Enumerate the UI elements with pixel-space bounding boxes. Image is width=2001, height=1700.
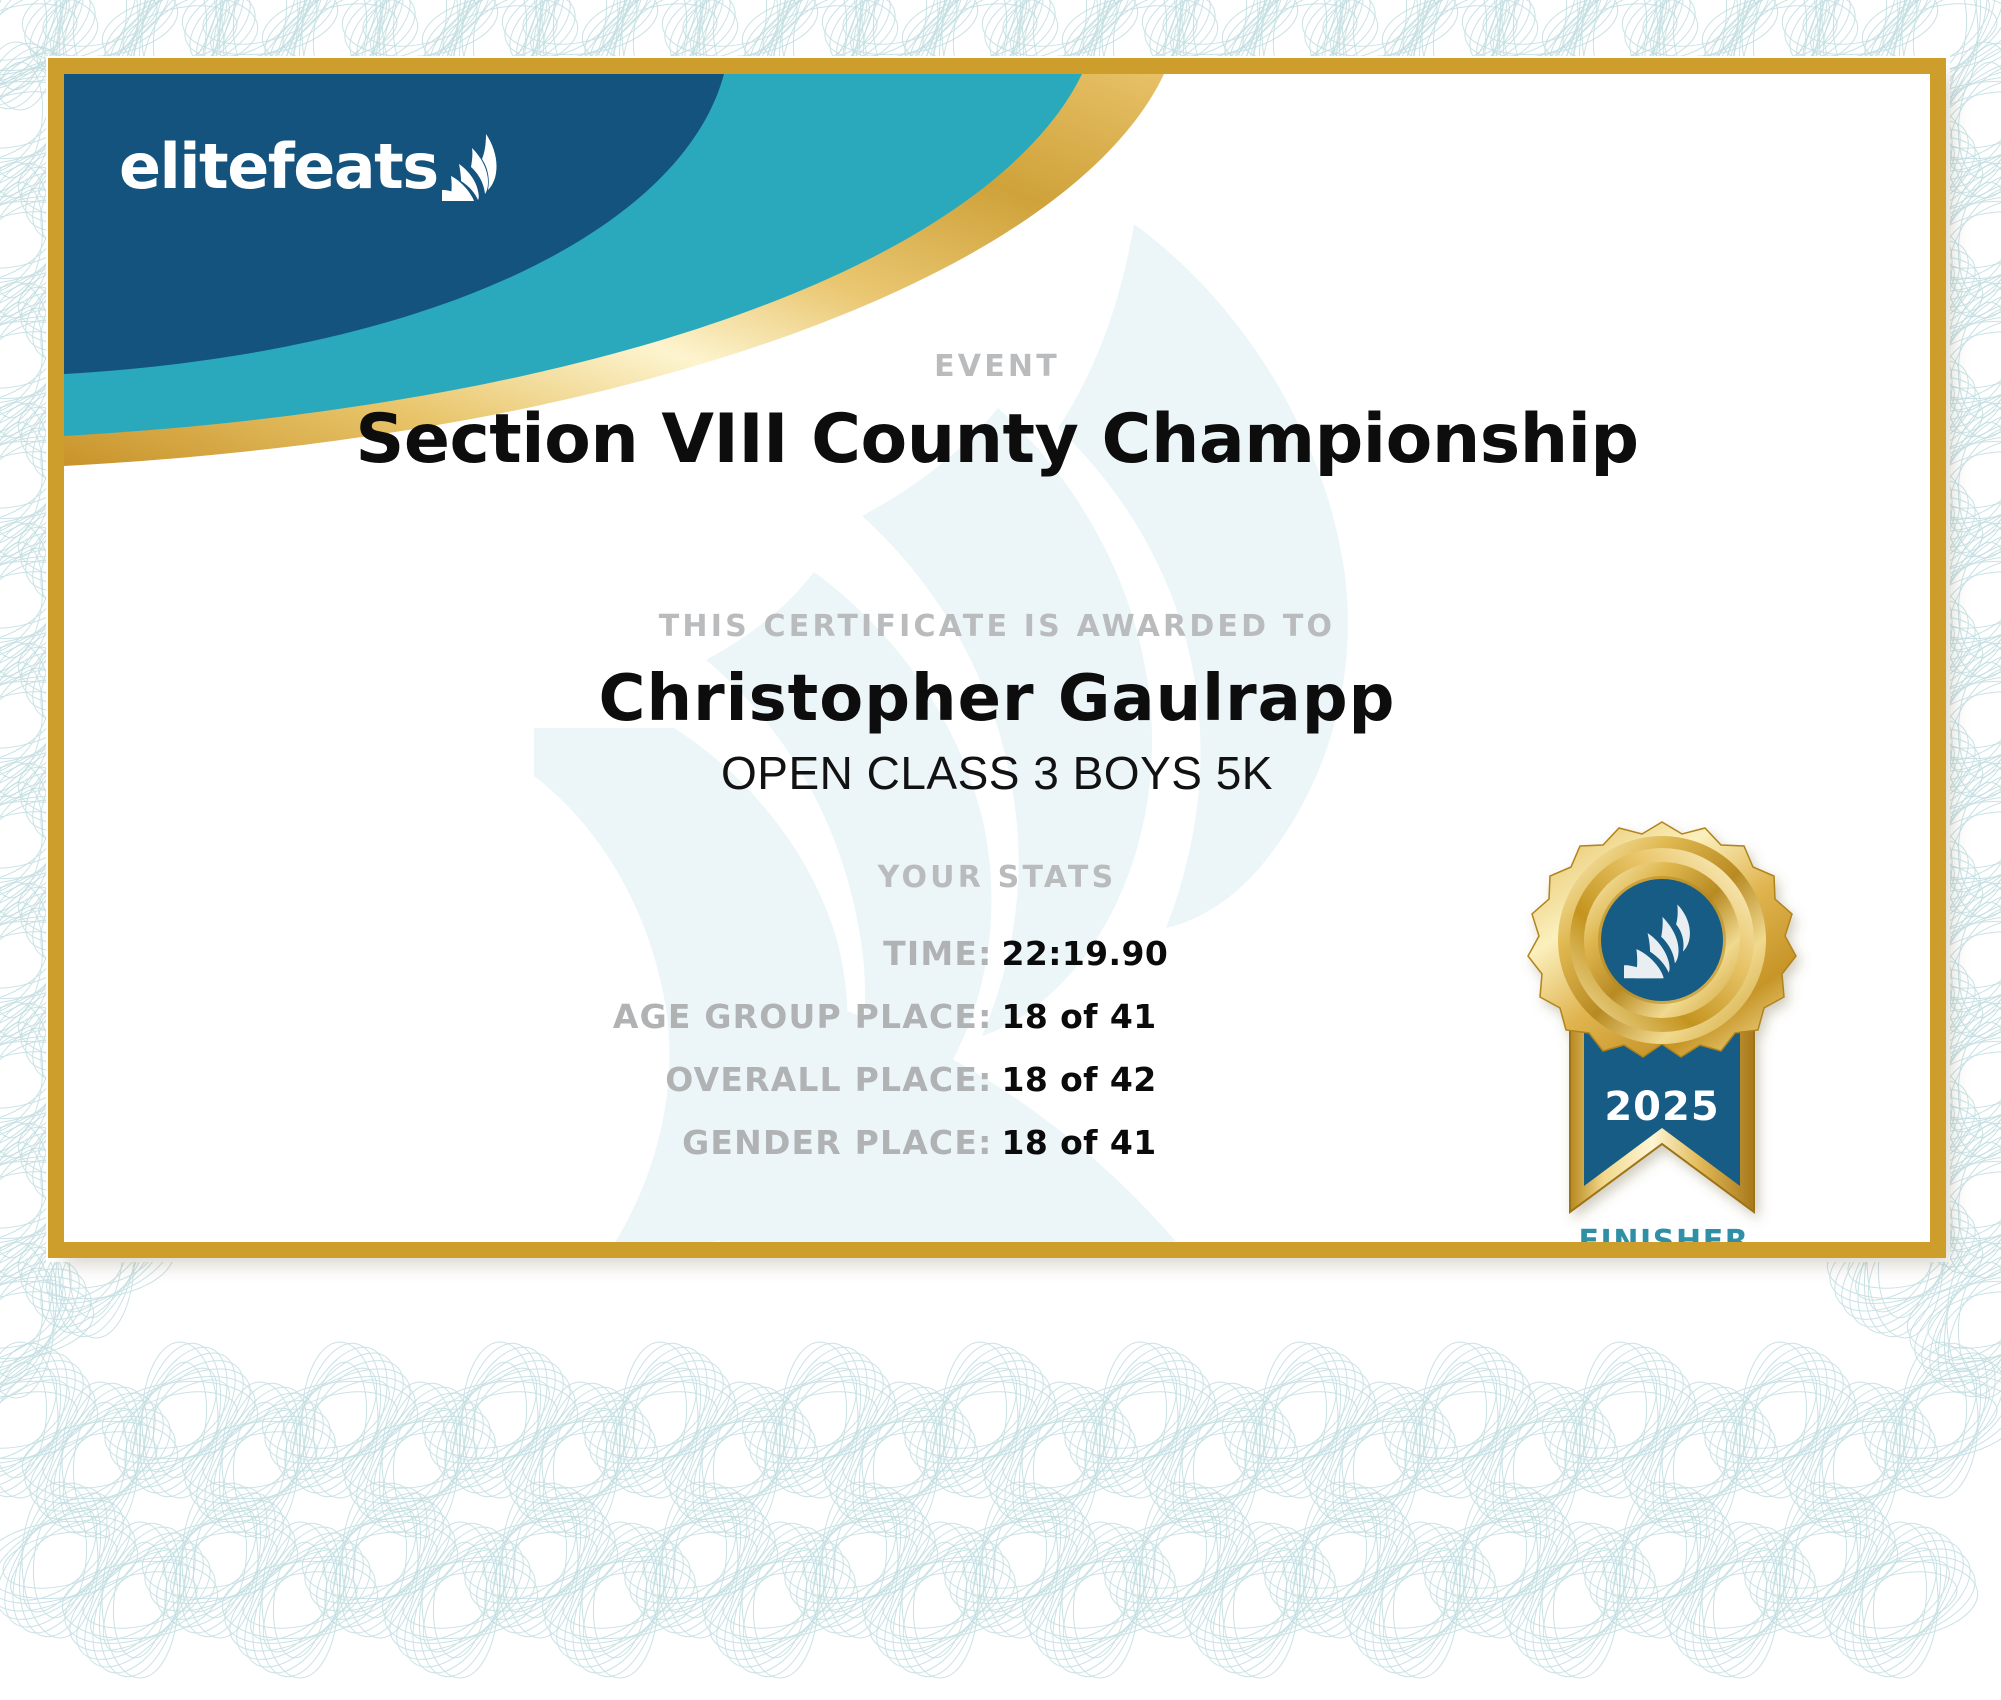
certificate-page: elitefeats EVENT Section VIII County Cha…: [0, 0, 2001, 1700]
stat-label-overall-place: OVERALL PLACE:: [493, 1060, 1002, 1099]
winged-foot-icon: [442, 132, 504, 202]
finisher-medal-badge: 2025: [1512, 814, 1812, 1242]
stat-value-overall-place: 18 of 42: [1002, 1060, 1502, 1099]
stat-label-age-group-place: AGE GROUP PLACE:: [493, 997, 1002, 1036]
awarded-to-kicker: THIS CERTIFICATE IS AWARDED TO: [64, 609, 1930, 644]
event-title: Section VIII County Championship: [64, 400, 1930, 479]
finisher-caption-line1: FINISHER: [1494, 1224, 1834, 1242]
elitefeats-logo: elitefeats: [119, 132, 504, 198]
finisher-certificate-caption: FINISHER CERTIFICATE: [1494, 1224, 1834, 1242]
event-kicker: EVENT: [64, 349, 1930, 384]
stat-label-gender-place: GENDER PLACE:: [493, 1123, 1002, 1162]
medal-year: 2025: [1604, 1084, 1719, 1130]
stat-value-time: 22:19.90: [1002, 934, 1502, 973]
stat-label-time: TIME:: [493, 934, 1002, 973]
division-name: OPEN CLASS 3 BOYS 5K: [64, 746, 1930, 800]
certificate-frame: elitefeats EVENT Section VIII County Cha…: [48, 58, 1946, 1258]
logo-wordmark: elitefeats: [119, 136, 438, 198]
stat-value-age-group-place: 18 of 41: [1002, 997, 1502, 1036]
stat-value-gender-place: 18 of 41: [1002, 1123, 1502, 1162]
recipient-name: Christopher Gaulrapp: [64, 662, 1930, 736]
